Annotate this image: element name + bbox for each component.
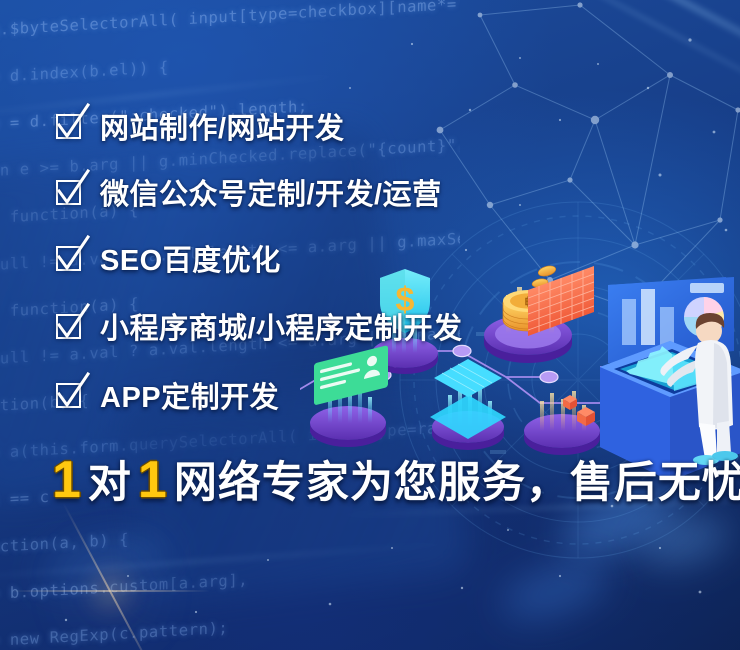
checkbox-checked-icon[interactable] — [56, 178, 84, 206]
service-checklist: 网站制作/网站开发 微信公众号定制/开发/运营 SEO百度优化 — [0, 0, 740, 650]
promo-banner: g.$byteSelectorAll( input[type=checkbox]… — [0, 0, 740, 650]
tagline-number-second: 1 — [134, 450, 172, 510]
checkbox-checked-icon[interactable] — [56, 244, 84, 272]
tagline-rest-text: 网络专家为您服务，售后无忧！ — [172, 448, 740, 510]
checklist-item-1[interactable]: 微信公众号定制/开发/运营 — [56, 171, 442, 213]
checklist-item-label: 小程序商城/小程序定制开发 — [100, 305, 463, 347]
tagline: 1 对 1 网络专家为您服务，售后无忧！ — [48, 448, 740, 510]
checkbox-checked-icon[interactable] — [56, 312, 84, 340]
checklist-item-0[interactable]: 网站制作/网站开发 — [56, 105, 345, 147]
checklist-item-2[interactable]: SEO百度优化 — [56, 237, 281, 279]
checkbox-checked-icon[interactable] — [56, 112, 84, 140]
checklist-item-3[interactable]: 小程序商城/小程序定制开发 — [56, 305, 463, 347]
tagline-word-dui: 对 — [86, 448, 134, 510]
checklist-item-label: 网站制作/网站开发 — [100, 105, 345, 147]
checkbox-checked-icon[interactable] — [56, 381, 84, 409]
checklist-item-label: 微信公众号定制/开发/运营 — [100, 171, 442, 213]
checklist-item-4[interactable]: APP定制开发 — [56, 374, 279, 416]
tagline-number-first: 1 — [48, 450, 86, 510]
checklist-item-label: SEO百度优化 — [100, 237, 281, 279]
checklist-item-label: APP定制开发 — [100, 374, 279, 416]
